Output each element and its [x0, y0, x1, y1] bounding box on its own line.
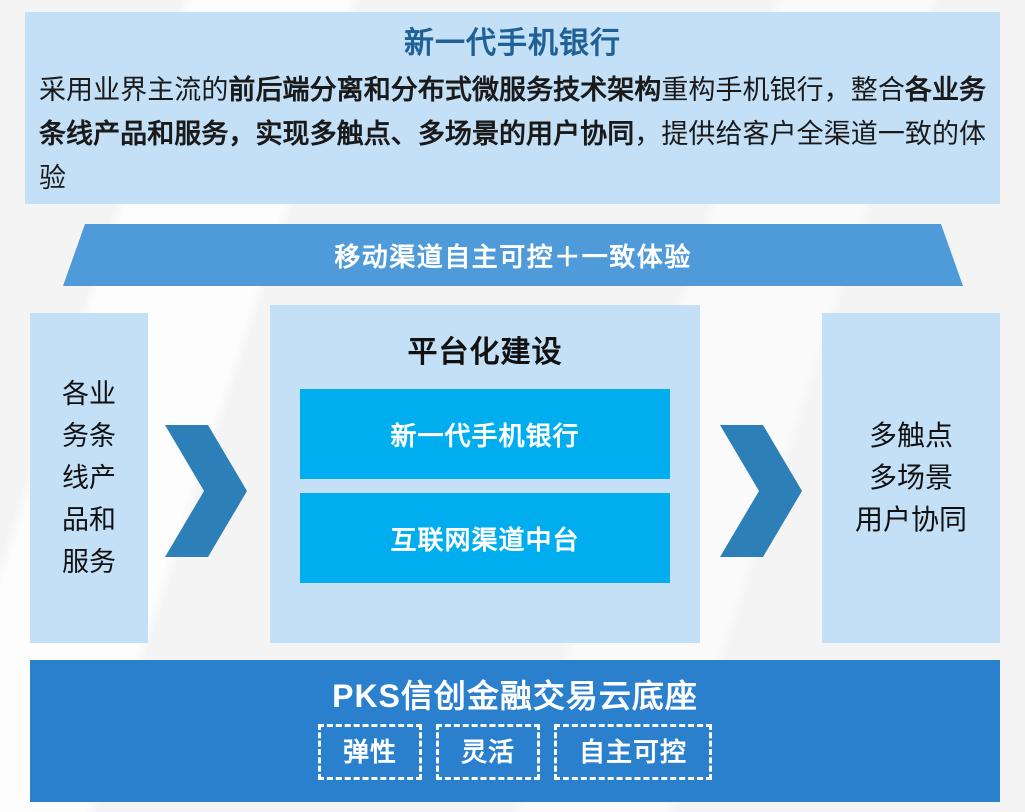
foundation-tag-elastic[interactable]: 弹性 — [318, 724, 422, 780]
header-description: 采用业界主流的前后端分离和分布式微服务技术架构重构手机银行，整合各业务条线产品和… — [39, 68, 986, 200]
platform-panel: 平台化建设 新一代手机银行 互联网渠道中台 — [270, 305, 700, 643]
input-panel: 各业 务条 线产 品和 服务 — [30, 313, 148, 643]
page-title: 新一代手机银行 — [39, 24, 986, 64]
header-desc-seg-0: 采用业界主流的 — [39, 75, 228, 105]
platform-panel-title: 平台化建设 — [270, 327, 700, 371]
foundation-tag-flexible[interactable]: 灵活 — [436, 724, 540, 780]
input-panel-label: 各业 务条 线产 品和 服务 — [62, 373, 116, 583]
output-panel-label: 多触点 多场景 用户协同 — [855, 415, 967, 541]
header-desc-seg-2: 重构手机银行，整合 — [661, 75, 905, 105]
output-panel: 多触点 多场景 用户协同 — [822, 313, 1000, 643]
foundation-tag-autonomous-control[interactable]: 自主可控 — [554, 724, 712, 780]
platform-box-mobile-bank[interactable]: 新一代手机银行 — [300, 389, 670, 479]
platform-box-internet-channel-midend[interactable]: 互联网渠道中台 — [300, 493, 670, 583]
chevron-right-icon-2 — [718, 425, 804, 557]
foundation-title: PKS信创金融交易云底座 — [30, 674, 1000, 718]
platform-box-list: 新一代手机银行 互联网渠道中台 — [270, 389, 700, 583]
chevron-right-icon — [163, 425, 249, 557]
header-panel: 新一代手机银行 采用业界主流的前后端分离和分布式微服务技术架构重构手机银行，整合… — [25, 12, 1000, 204]
slide-stage: 新一代手机银行 采用业界主流的前后端分离和分布式微服务技术架构重构手机银行，整合… — [0, 0, 1025, 812]
foundation-tag-list: 弹性 灵活 自主可控 — [30, 724, 1000, 780]
header-desc-seg-1: 前后端分离和分布式微服务技术架构 — [228, 75, 661, 105]
banner-strip: 移动渠道自主可控＋一致体验 — [63, 224, 963, 286]
foundation-bar: PKS信创金融交易云底座 弹性 灵活 自主可控 — [30, 660, 1000, 802]
banner-label: 移动渠道自主可控＋一致体验 — [334, 237, 692, 274]
